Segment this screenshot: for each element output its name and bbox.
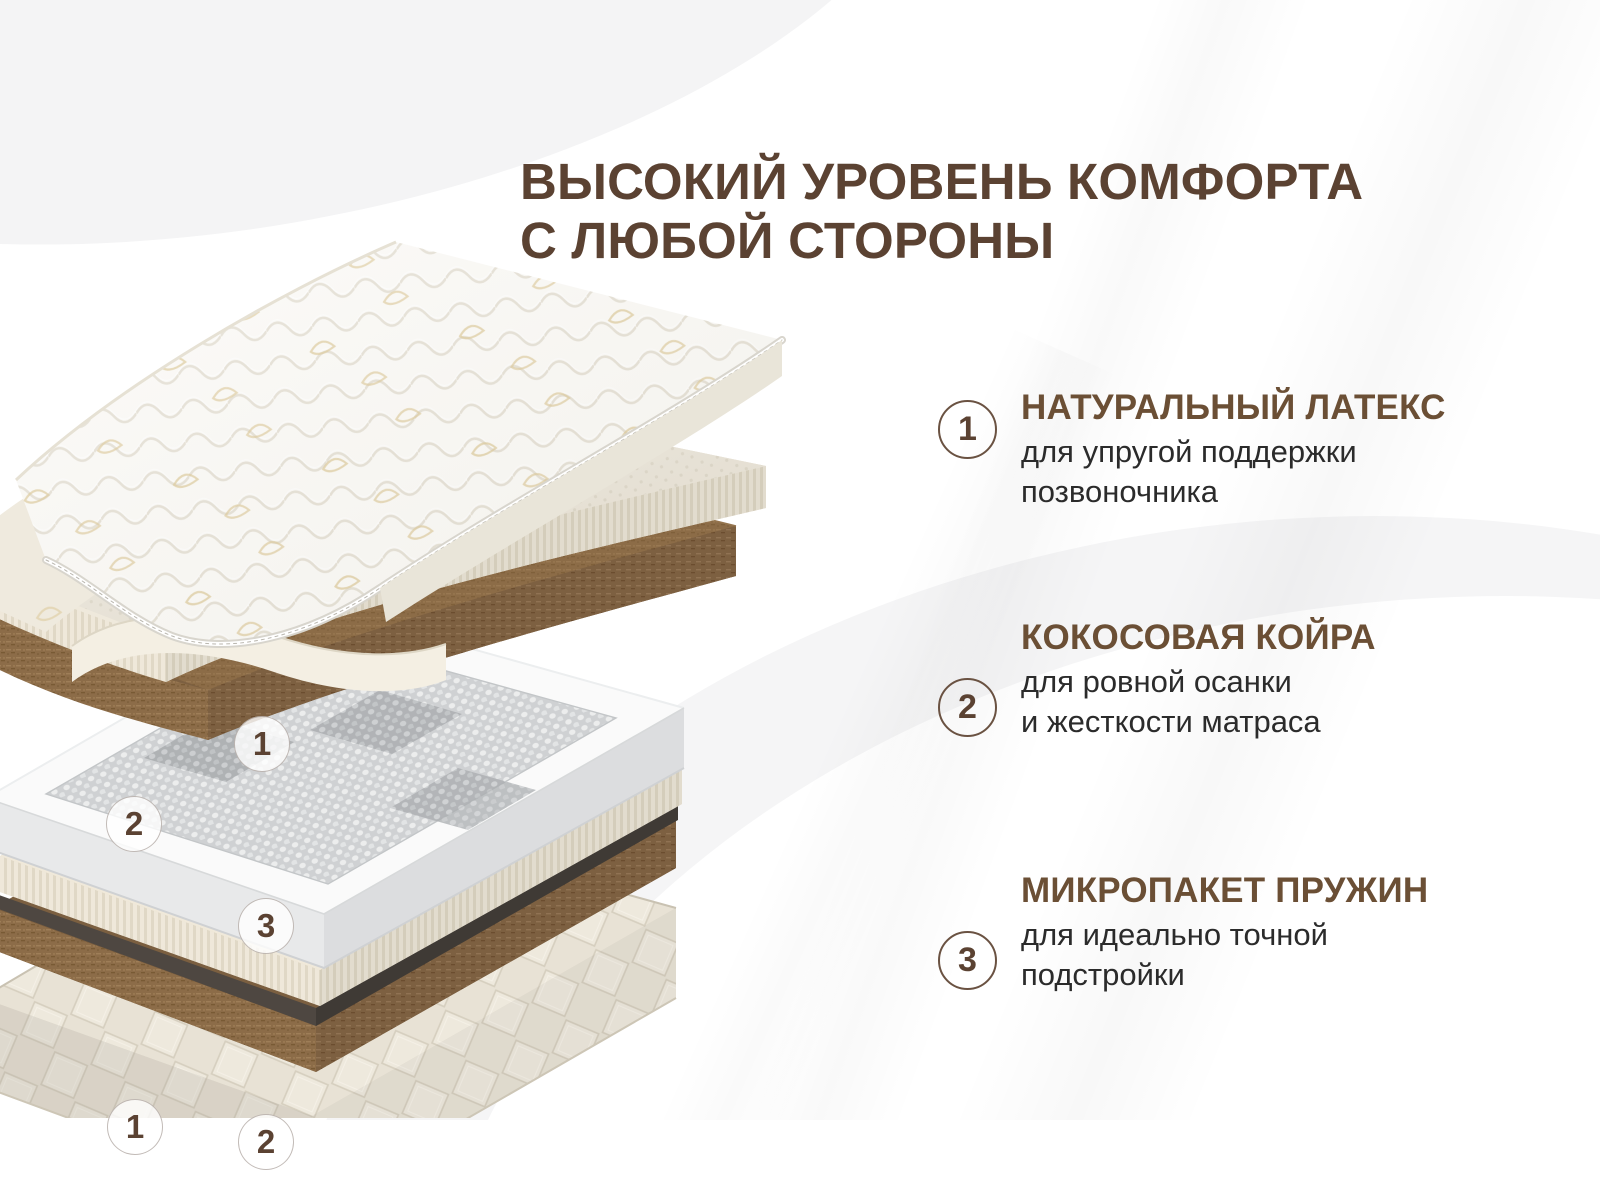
feature-title-1: НАТУРАЛЬНЫЙ ЛАТЕКС: [1021, 386, 1446, 429]
feature-text-2: КОКОСОВАЯ КОЙРА для ровной осанки и жест…: [1021, 616, 1376, 742]
mattress-callout-1-latex: 1: [234, 716, 290, 772]
feature-description-2: для ровной осанки и жесткости матраса: [1021, 662, 1376, 742]
feature-item-springs: 3 МИКРОПАКЕТ ПРУЖИН для идеально точной …: [938, 869, 1428, 995]
feature-item-latex: 1 НАТУРАЛЬНЫЙ ЛАТЕКС для упругой поддерж…: [938, 386, 1446, 512]
mattress-illustration: 1 2 3 1 2: [0, 208, 856, 1118]
feature-description-3: для идеально точной подстройки: [1021, 915, 1428, 995]
feature-title-3: МИКРОПАКЕТ ПРУЖИН: [1021, 869, 1428, 912]
feature-description-1: для упругой поддержки позвоночника: [1021, 432, 1446, 512]
feature-item-coir: 2 КОКОСОВАЯ КОЙРА для ровной осанки и же…: [938, 616, 1376, 742]
feature-badge-1: 1: [938, 400, 997, 459]
feature-text-1: НАТУРАЛЬНЫЙ ЛАТЕКС для упругой поддержки…: [1021, 386, 1446, 512]
mattress-callout-2-coir-bottom: 2: [238, 1114, 294, 1170]
feature-text-3: МИКРОПАКЕТ ПРУЖИН для идеально точной по…: [1021, 869, 1428, 995]
feature-title-2: КОКОСОВАЯ КОЙРА: [1021, 616, 1376, 659]
feature-badge-2: 2: [938, 678, 997, 737]
feature-badge-3: 3: [938, 931, 997, 990]
mattress-callout-3-springs: 3: [238, 898, 294, 954]
mattress-callout-2-coir: 2: [106, 796, 162, 852]
mattress-callout-1-latex-bottom: 1: [107, 1099, 163, 1155]
mattress-cutaway-svg: [0, 208, 856, 1118]
poster-canvas: ВЫСОКИЙ УРОВЕНЬ КОМФОРТА С ЛЮБОЙ СТОРОНЫ: [0, 0, 1600, 1200]
